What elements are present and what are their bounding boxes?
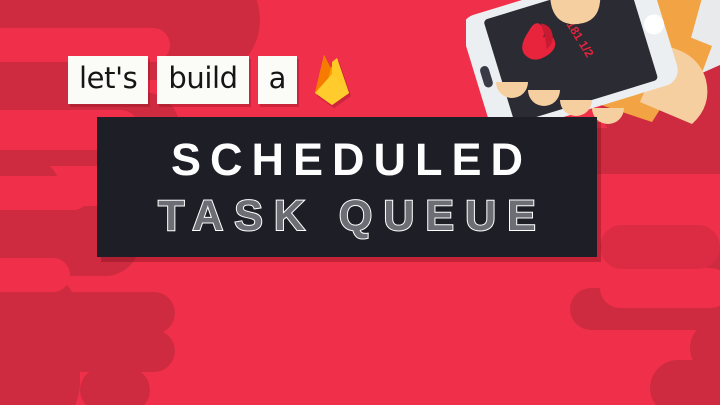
background-blob (0, 258, 70, 292)
firebase-flame-icon (310, 52, 354, 108)
tagline-chip-build: build (157, 56, 248, 104)
thumbnail-canvas: 181 1/2 let's bu (0, 0, 720, 405)
tagline-chip-lets: let's (68, 56, 148, 104)
title-card: SCHEDULED TASK QUEUE (97, 117, 597, 257)
background-blob (600, 268, 720, 308)
background-blob (0, 292, 175, 334)
tagline-row: let's build a (68, 52, 354, 108)
background-blob (0, 176, 90, 210)
background-blob (600, 225, 720, 269)
tagline-chip-a: a (258, 56, 297, 104)
background-blob (60, 330, 175, 372)
background-blob (80, 368, 150, 405)
title-line-task-queue: TASK QUEUE (97, 195, 597, 238)
title-line-scheduled: SCHEDULED (97, 137, 597, 182)
